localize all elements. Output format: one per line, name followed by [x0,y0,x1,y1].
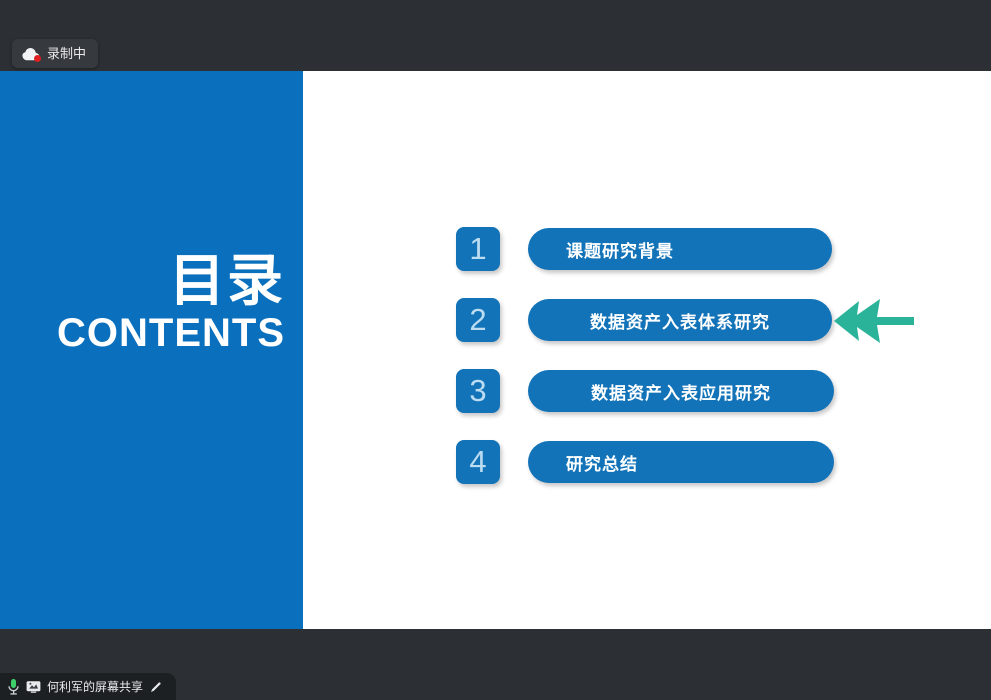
screen-share-label: 何利军的屏幕共享 [47,681,143,693]
contents-item-1[interactable]: 1 课题研究背景 [456,224,976,274]
contents-label-2: 数据资产入表体系研究 [590,308,770,333]
presentation-slide: 目录 CONTENTS 1 课题研究背景 2 数据资产入表体系研究 [0,71,991,629]
contents-label-3: 数据资产入表应用研究 [591,379,771,404]
contents-item-2[interactable]: 2 数据资产入表体系研究 [456,295,976,345]
monitor-icon[interactable] [26,680,41,694]
contents-number-badge-1: 1 [456,227,500,271]
contents-bar-3[interactable]: 数据资产入表应用研究 [528,370,834,412]
contents-bar-2[interactable]: 数据资产入表体系研究 [528,299,832,341]
contents-label-1: 课题研究背景 [566,237,674,262]
contents-item-4[interactable]: 4 研究总结 [456,437,976,487]
slide-left-panel: 目录 CONTENTS [0,71,303,629]
contents-number-badge-3: 3 [456,369,500,413]
contents-bar-1[interactable]: 课题研究背景 [528,228,832,270]
contents-label-4: 研究总结 [566,450,638,475]
contents-heading: 目录 CONTENTS [0,254,285,354]
recording-indicator-dot [34,55,41,62]
contents-number-badge-2: 2 [456,298,500,342]
screen-share-desktop: 录制中 目录 CONTENTS 1 课题研究背景 2 数据资 [0,0,991,700]
contents-number-badge-4: 4 [456,440,500,484]
recording-badge[interactable]: 录制中 [12,39,98,68]
contents-list: 1 课题研究背景 2 数据资产入表体系研究 3 数据资产入表应用研究 [456,224,976,508]
contents-bar-4[interactable]: 研究总结 [528,441,834,483]
slide-right-panel: 1 课题研究背景 2 数据资产入表体系研究 3 数据资产入表应用研究 [303,71,991,629]
recording-badge-label: 录制中 [47,47,86,60]
microphone-icon[interactable] [7,678,20,695]
contents-title-cn: 目录 [0,254,285,310]
screen-share-taskbar[interactable]: 何利军的屏幕共享 [0,673,176,700]
cloud-record-icon [22,47,40,61]
contents-item-3[interactable]: 3 数据资产入表应用研究 [456,366,976,416]
contents-title-en: CONTENTS [0,312,285,354]
pencil-icon[interactable] [149,680,163,694]
